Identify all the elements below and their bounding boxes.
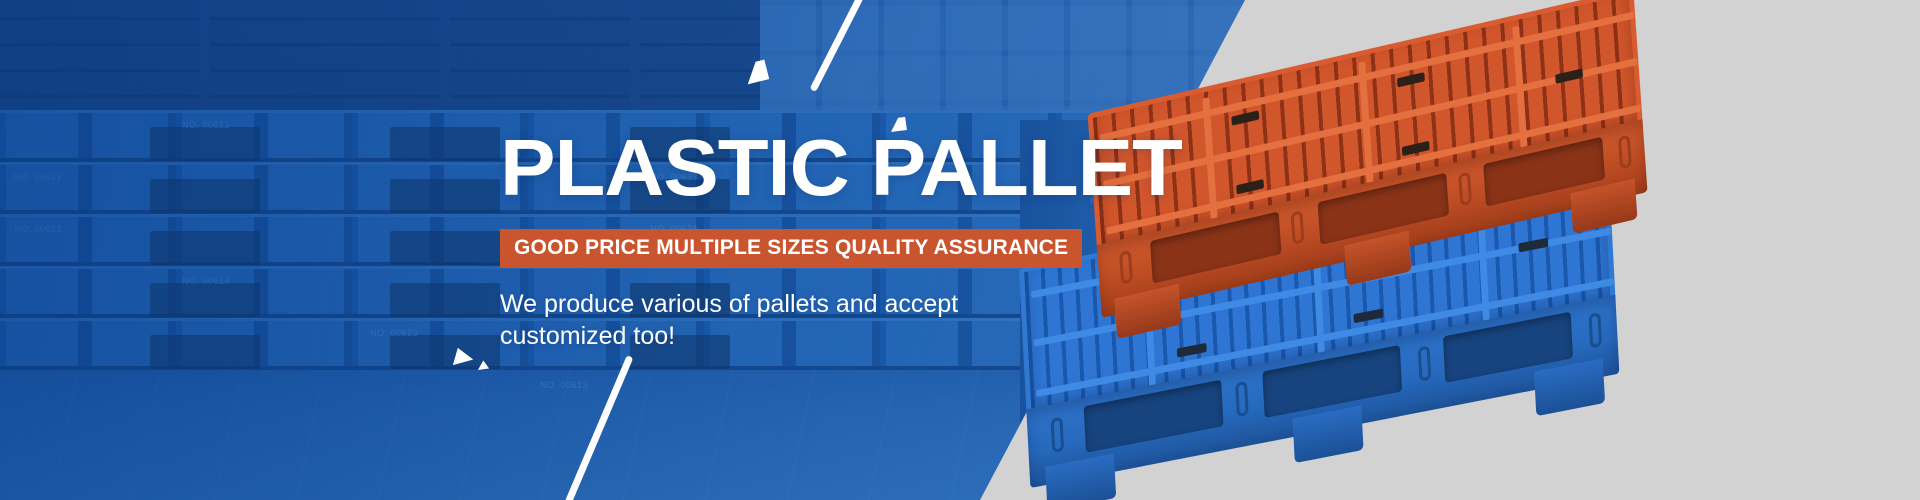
pallet-hook: [1051, 417, 1065, 454]
anti-slip-pad: [1518, 238, 1548, 253]
pallet-hook: [1589, 312, 1603, 349]
pallet-hook: [1418, 345, 1432, 382]
banner-headline: PLASTIC PALLET: [500, 130, 1041, 207]
pallet-hook: [1291, 210, 1305, 245]
banner-copy-block: PLASTIC PALLET GOOD PRICE MULTIPLE SIZES…: [500, 130, 1020, 353]
promo-banner: NO. 00621 NO. 00622 NO. 00612 NO. 00614 …: [0, 0, 1920, 500]
banner-subcopy: We produce various of pallets and accept…: [500, 288, 970, 353]
pallet-hook: [1235, 381, 1249, 418]
anti-slip-pad: [1354, 308, 1384, 323]
anti-slip-pad: [1397, 72, 1425, 87]
anti-slip-pad: [1231, 110, 1259, 125]
pallet-hook: [1618, 135, 1632, 170]
anti-slip-pad: [1555, 68, 1583, 83]
pallet-hook: [1458, 171, 1472, 206]
feature-badge: GOOD PRICE MULTIPLE SIZES QUALITY ASSURA…: [500, 229, 1082, 268]
pallet-hook: [1119, 250, 1133, 285]
anti-slip-pad: [1177, 343, 1207, 358]
